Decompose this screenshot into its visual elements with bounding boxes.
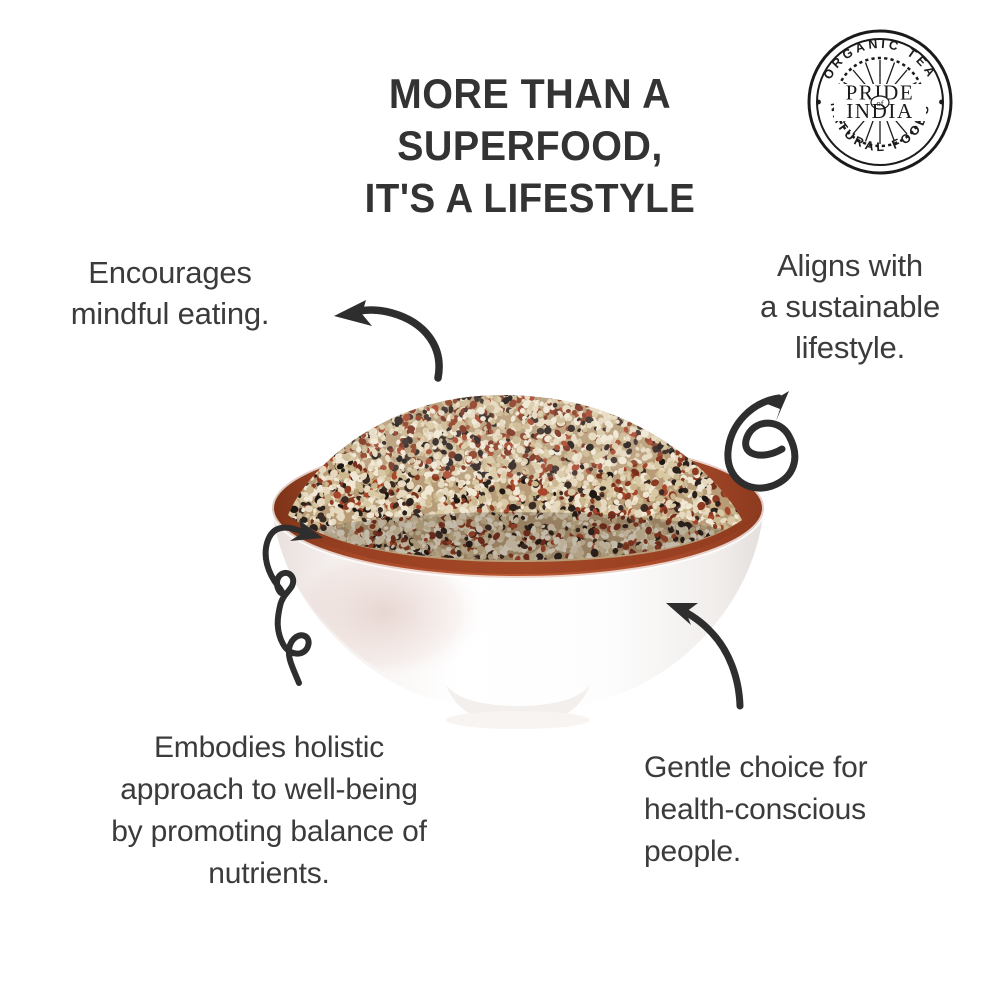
callout-embodies-holistic-approach: Embodies holistic approach to well-being… <box>48 727 490 895</box>
brand-logo: ORGANIC TEA NATURAL FOODS <box>806 28 954 176</box>
callout-line: Gentle choice for <box>644 747 960 789</box>
callout-line: mindful eating. <box>20 293 320 334</box>
arrow-top-left <box>334 300 439 378</box>
callout-line: by promoting balance of <box>48 811 490 853</box>
title-line-1: MORE THAN A <box>314 68 746 120</box>
callout-line: Embodies holistic <box>48 727 490 769</box>
callout-line: health-conscious <box>644 789 960 831</box>
title-line-2: SUPERFOOD, <box>314 120 746 172</box>
page-title: MORE THAN A SUPERFOOD, IT'S A LIFESTYLE <box>300 68 760 224</box>
title-line-3: IT'S A LIFESTYLE <box>314 172 746 224</box>
callout-line: a sustainable <box>716 286 984 327</box>
callout-line: people. <box>644 831 960 873</box>
callout-gentle-choice-health-conscious: Gentle choice for health-conscious peopl… <box>644 747 960 873</box>
callout-aligns-sustainable-lifestyle: Aligns with a sustainable lifestyle. <box>716 245 984 368</box>
callout-line: lifestyle. <box>716 327 984 368</box>
callout-line: approach to well-being <box>48 769 490 811</box>
callout-line: Aligns with <box>716 245 984 286</box>
infographic-canvas: MORE THAN A SUPERFOOD, IT'S A LIFESTYLE … <box>0 0 1000 1000</box>
callout-encourages-mindful-eating: Encourages mindful eating. <box>20 252 320 334</box>
callout-line: nutrients. <box>48 853 490 895</box>
quinoa-bowl-photo <box>250 380 790 740</box>
logo-center-line2: INDIA <box>846 99 913 123</box>
callout-line: Encourages <box>20 252 320 293</box>
